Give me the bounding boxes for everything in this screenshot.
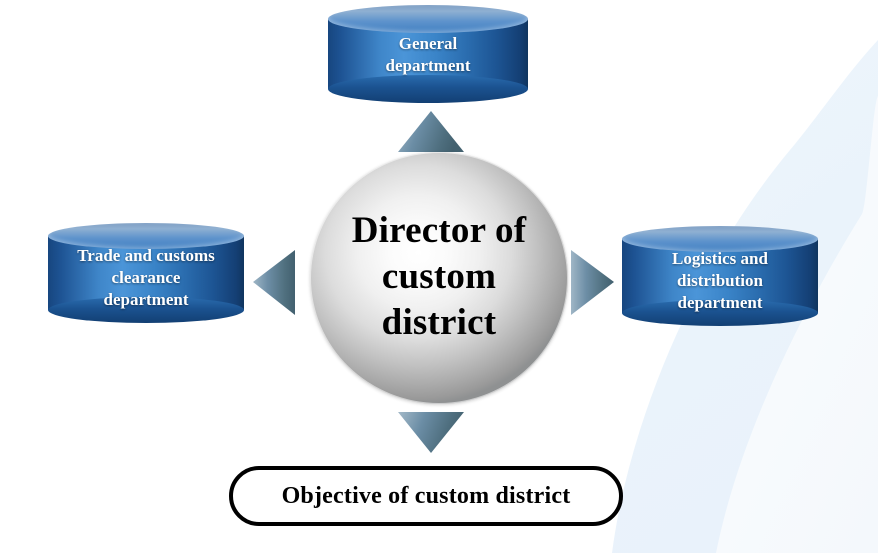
center-label: Director of custom district bbox=[352, 208, 526, 348]
node-general-department[interactable]: General department bbox=[328, 5, 528, 103]
node-label-line: department bbox=[56, 289, 236, 311]
node-logistics-and-distribution-department[interactable]: Logistics and distribution department bbox=[622, 226, 818, 326]
node-label-line: Trade and customs bbox=[56, 245, 236, 267]
objective-label: Objective of custom district bbox=[282, 483, 571, 510]
node-label: General department bbox=[328, 33, 528, 77]
node-label-line: clearance bbox=[56, 267, 236, 289]
node-label-line: department bbox=[336, 55, 520, 77]
arrow-up-icon bbox=[398, 111, 464, 152]
node-label: Trade and customs clearance department bbox=[48, 245, 244, 311]
node-label-line: distribution bbox=[630, 270, 810, 292]
cylinder-bottom-ellipse bbox=[328, 75, 528, 103]
center-label-line: custom bbox=[352, 254, 526, 300]
arrow-left-icon bbox=[253, 250, 295, 315]
arrow-down-icon bbox=[398, 412, 464, 453]
node-label-line: Logistics and bbox=[630, 248, 810, 270]
center-label-line: Director of bbox=[352, 208, 526, 254]
node-trade-and-customs-clearance-department[interactable]: Trade and customs clearance department bbox=[48, 223, 244, 323]
node-label: Logistics and distribution department bbox=[622, 248, 818, 314]
cylinder-top-ellipse bbox=[328, 5, 528, 33]
arrow-right-icon bbox=[571, 250, 614, 315]
diagram-canvas: General department Trade and customs cle… bbox=[0, 0, 878, 553]
node-label-line: General bbox=[336, 33, 520, 55]
node-director-of-custom-district[interactable]: Director of custom district bbox=[310, 152, 568, 404]
node-label-line: department bbox=[630, 292, 810, 314]
center-label-line: district bbox=[352, 300, 526, 346]
node-objective-of-custom-district[interactable]: Objective of custom district bbox=[229, 466, 623, 526]
